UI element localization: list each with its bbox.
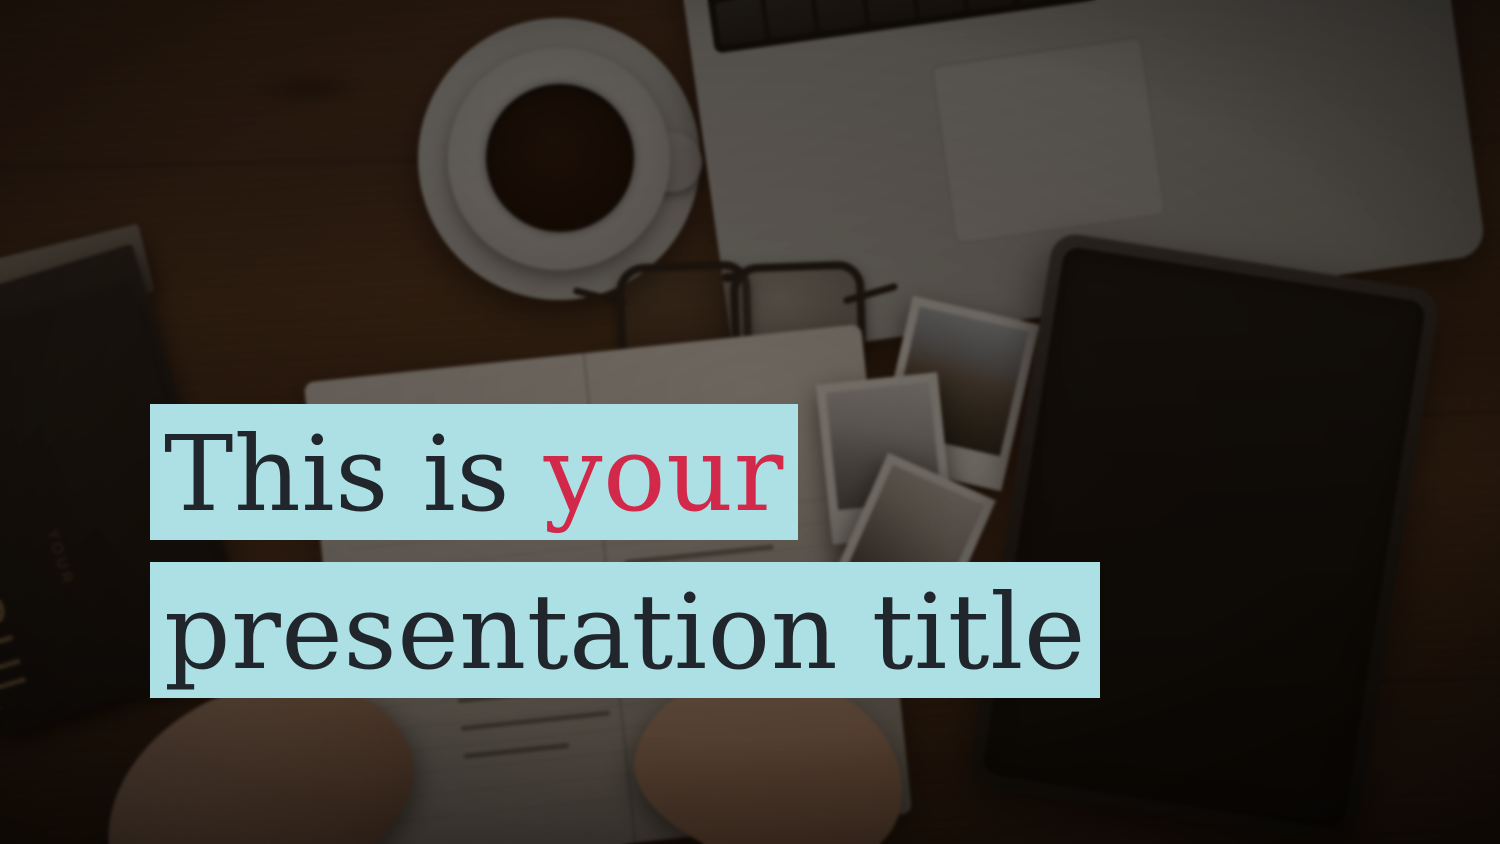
book-title-text: SOUL xyxy=(0,545,44,721)
laptop-keyboard xyxy=(681,0,1421,54)
title-line-2: presentation title xyxy=(150,562,1100,698)
coffee-liquid xyxy=(486,84,634,232)
laptop-trackpad xyxy=(931,36,1166,244)
book-subtitle-text: YOUR xyxy=(43,527,77,589)
presentation-slide: SOUL YOUR xyxy=(0,0,1500,844)
title-accent-word: your xyxy=(544,413,784,535)
title-line-1-text: This is xyxy=(164,413,544,535)
slide-title: This is your presentation title xyxy=(150,404,1100,698)
wood-grain-knot xyxy=(250,70,370,108)
title-line-1: This is your xyxy=(150,404,798,540)
